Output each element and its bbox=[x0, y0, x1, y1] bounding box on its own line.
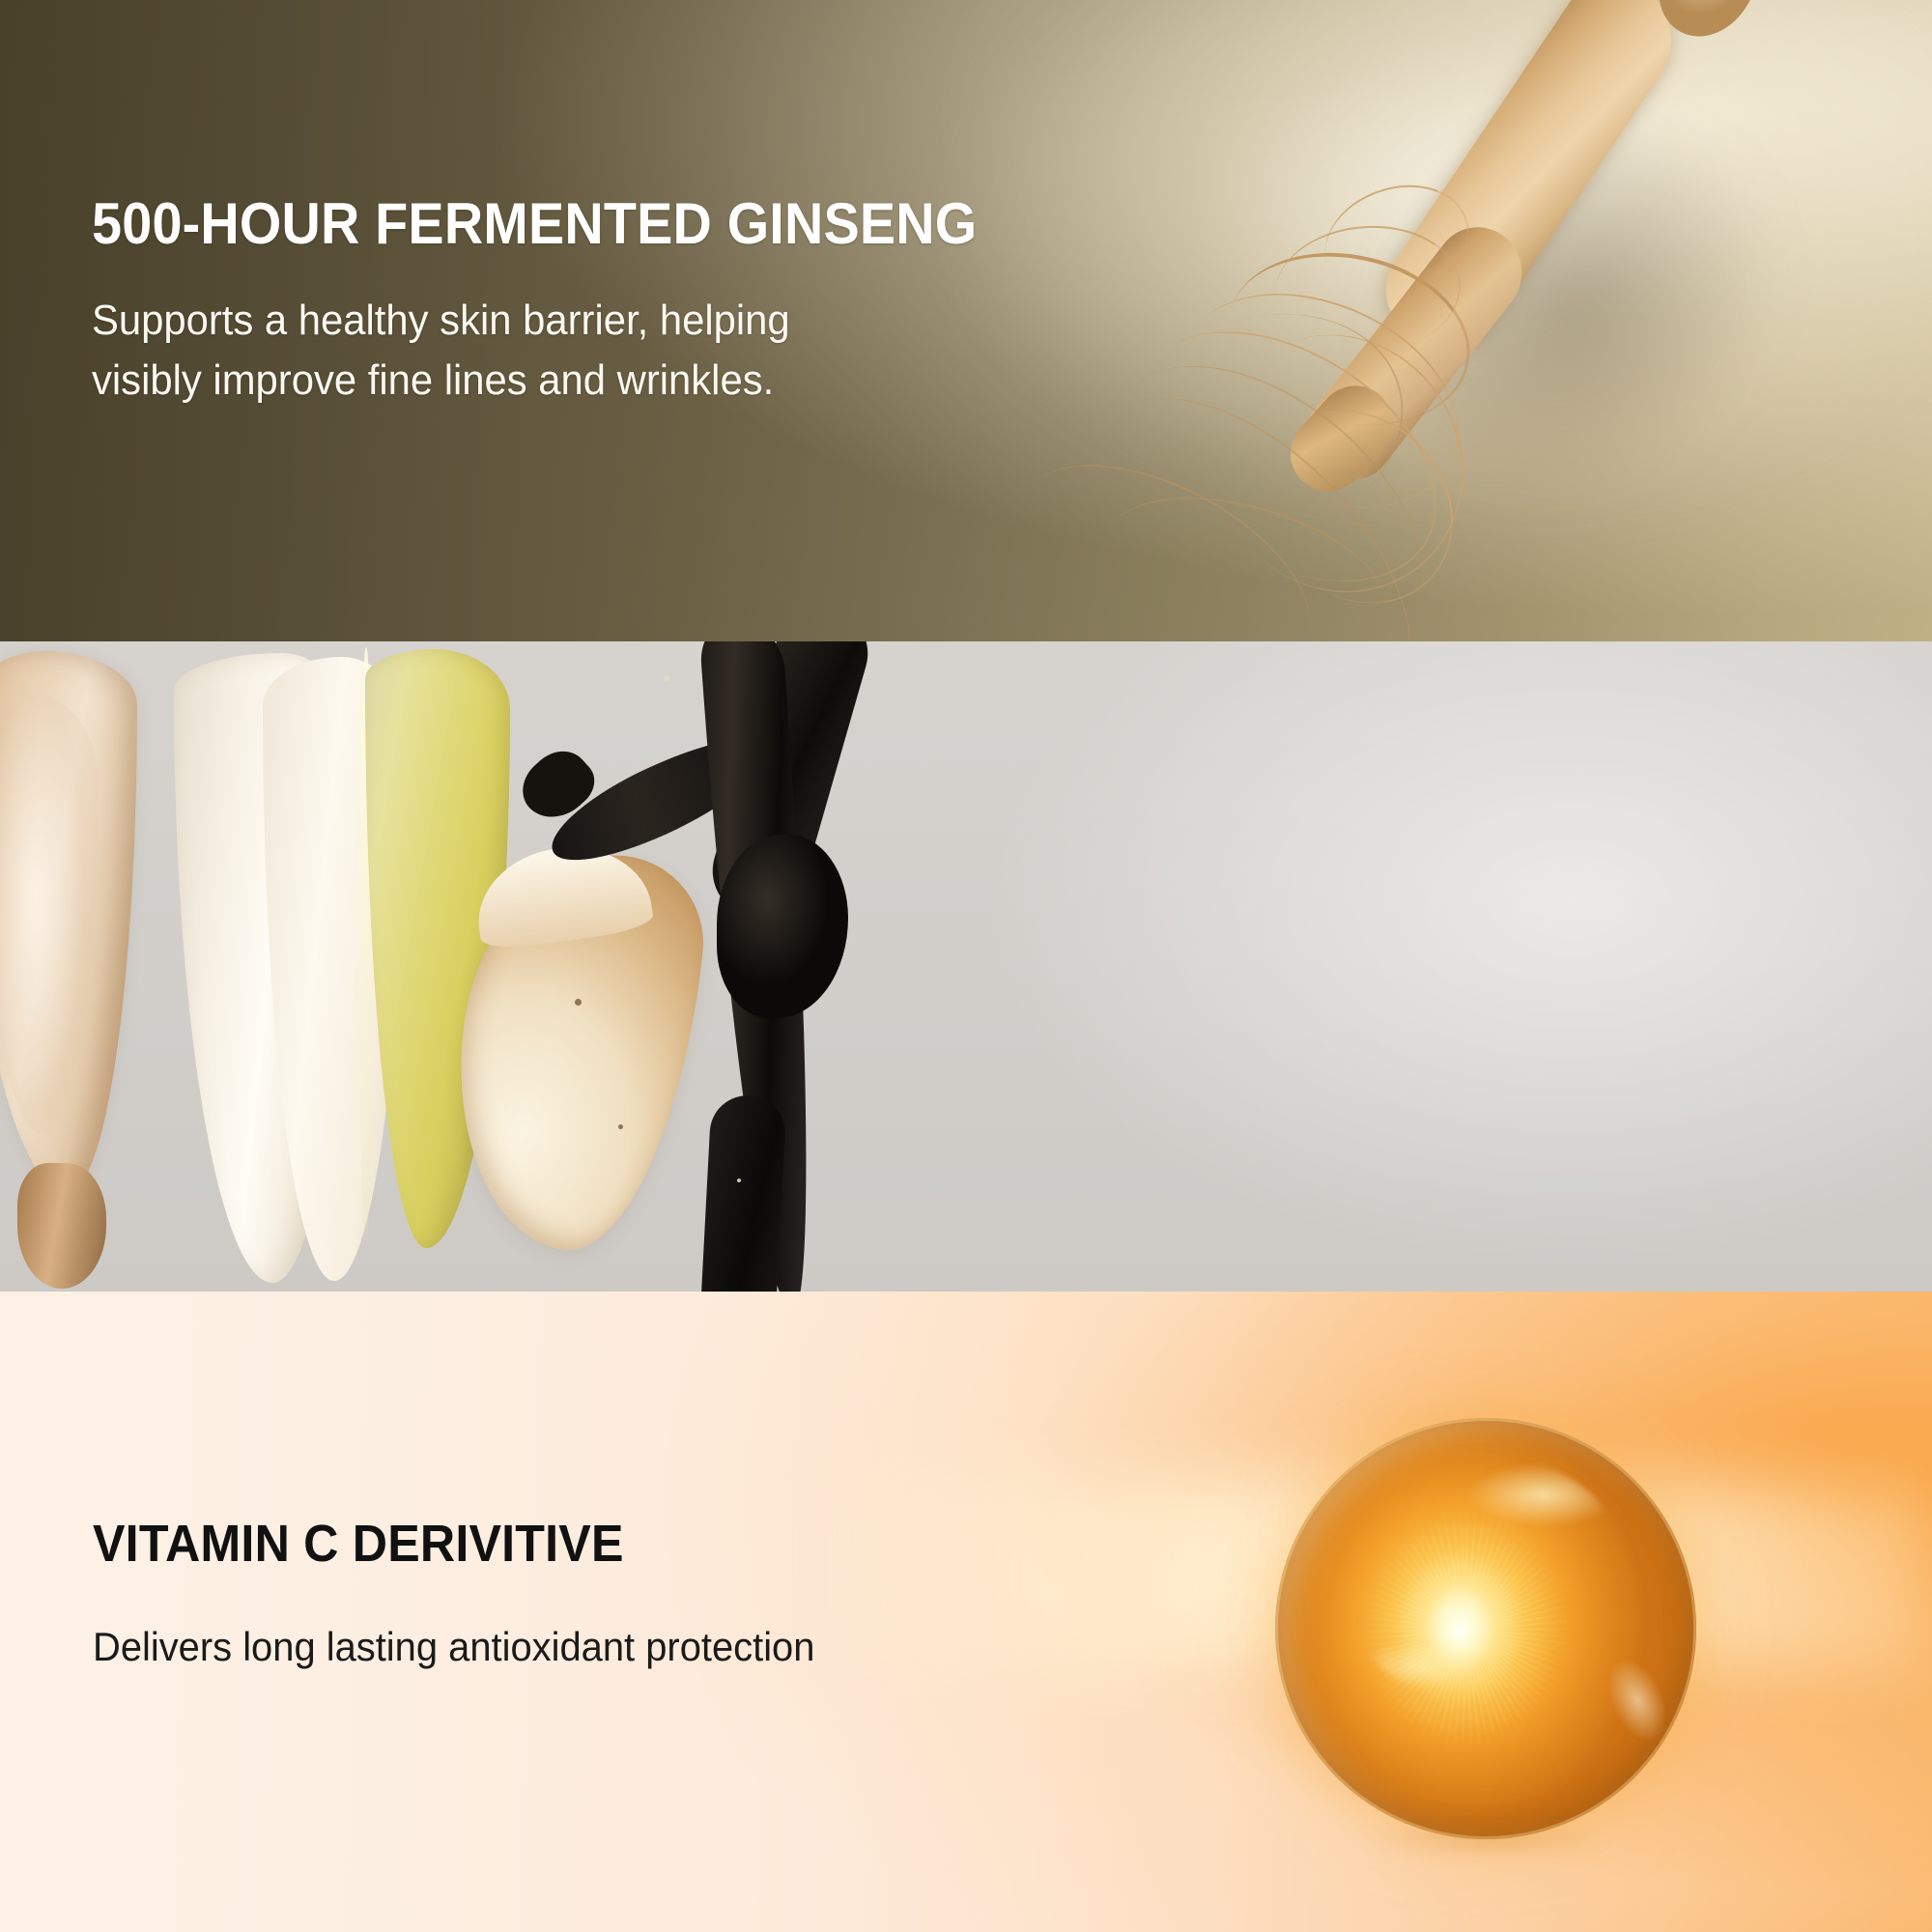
sphere-rim-highlight bbox=[1275, 1418, 1696, 1839]
panel-ginseng: 500-HOUR FERMENTED GINSENG Supports a he… bbox=[0, 0, 1932, 641]
root-speck bbox=[664, 675, 669, 681]
ginseng-body: Supports a healthy skin barrier, helping… bbox=[92, 291, 996, 412]
dried-root-slice-core bbox=[0, 697, 99, 1134]
ginseng-root-image bbox=[985, 0, 1932, 641]
ginseng-text-block: 500-HOUR FERMENTED GINSENG Supports a he… bbox=[92, 193, 1043, 412]
vitamin-c-body-line-1: Delivers long lasting antioxidant protec… bbox=[93, 1618, 814, 1676]
vitamin-c-body: Delivers long lasting antioxidant protec… bbox=[93, 1618, 814, 1676]
black-root-lower bbox=[698, 1094, 787, 1292]
petal-speck bbox=[618, 1124, 623, 1129]
dried-root-slice bbox=[0, 651, 137, 1192]
petal-speck bbox=[575, 999, 582, 1006]
vitamin-c-text-block: VITAMIN C DERIVITIVE Delivers long lasti… bbox=[93, 1517, 853, 1675]
panel-korean-herb: KOREAN HERB EXTRACT Improves hydration, … bbox=[0, 641, 1932, 1292]
ginseng-heading: 500-HOUR FERMENTED GINSENG bbox=[92, 193, 977, 254]
dried-root-slice-stem bbox=[17, 1163, 106, 1289]
infographic-canvas: 500-HOUR FERMENTED GINSENG Supports a he… bbox=[0, 0, 1932, 1932]
root-speck bbox=[737, 1179, 741, 1182]
ginseng-body-line-1: Supports a healthy skin barrier, helping bbox=[92, 291, 996, 351]
ginseng-body-line-2: visibly improve fine lines and wrinkles. bbox=[92, 351, 996, 411]
panel2-soft-light bbox=[734, 641, 1932, 1292]
vitamin-c-heading: VITAMIN C DERIVITIVE bbox=[93, 1517, 800, 1572]
